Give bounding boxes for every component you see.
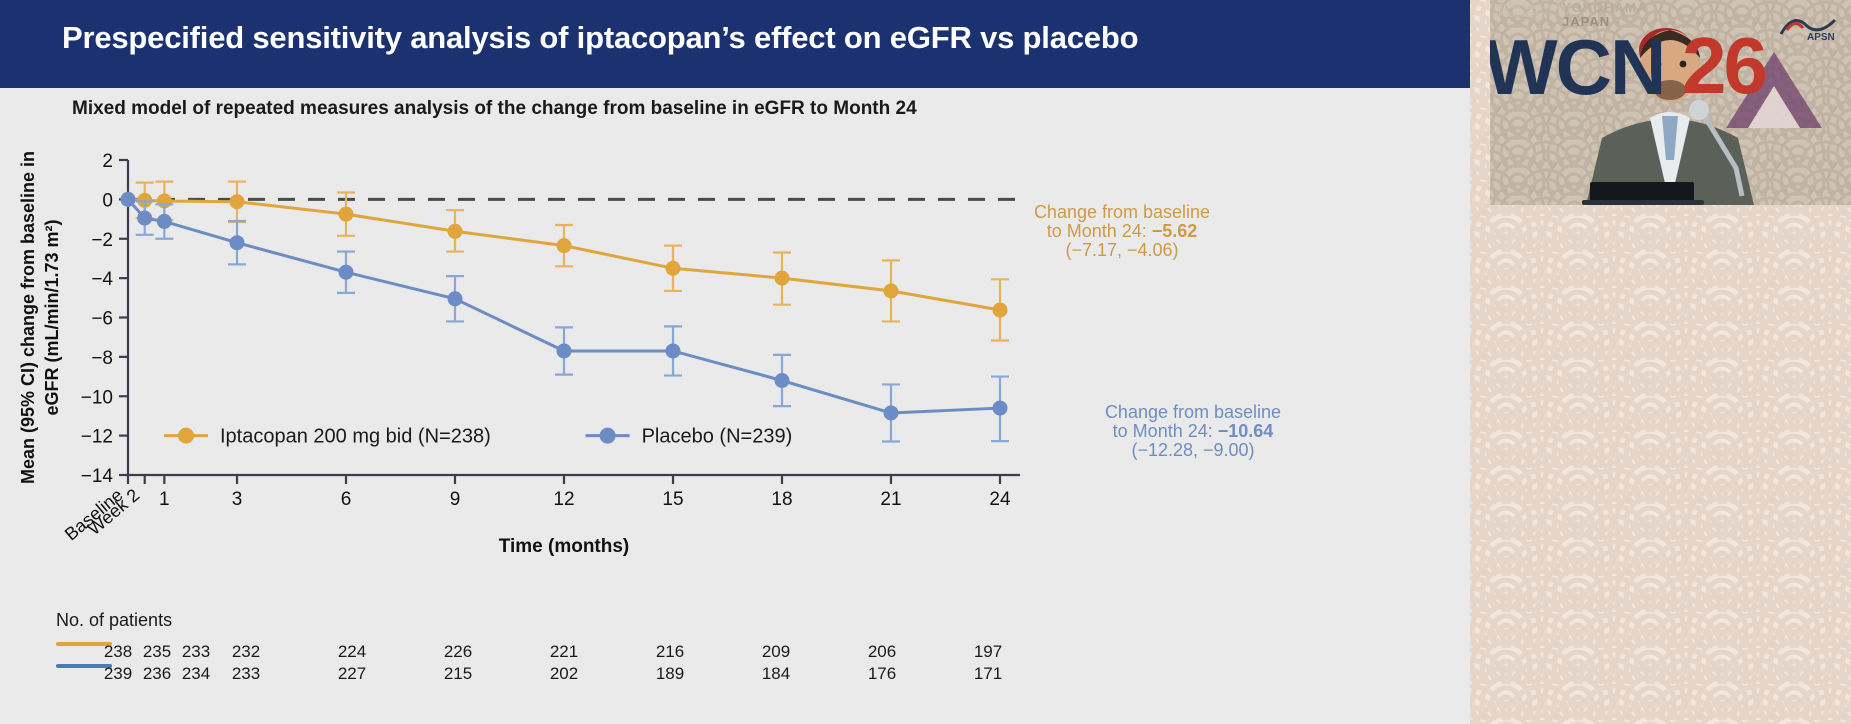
chart-plot-area: 20−2−4−6−8−10−12−14Mean (95% CI) change … <box>0 140 1470 600</box>
risk-table-cell: 226 <box>438 642 478 662</box>
risk-table-cell: 206 <box>862 642 902 662</box>
data-point[interactable] <box>884 405 899 420</box>
risk-table-cell: 209 <box>756 642 796 662</box>
y-tick-label: −10 <box>81 387 113 408</box>
x-tick-label: 6 <box>341 489 352 510</box>
x-tick-label: 12 <box>553 489 574 510</box>
data-point[interactable] <box>884 283 899 298</box>
y-tick-label: −6 <box>91 309 113 330</box>
x-tick-label: 21 <box>880 489 901 510</box>
y-tick-label: −4 <box>91 269 113 290</box>
y-tick-label: −8 <box>91 348 113 369</box>
data-point[interactable] <box>666 343 681 358</box>
speaker-video-thumbnail[interactable]: INTERNATIONAL SOCIETYOF NEPHROLOGY YOKOH… <box>1490 0 1851 205</box>
risk-table-cell: 233 <box>226 664 266 684</box>
data-point[interactable] <box>448 224 463 239</box>
risk-table-cell: 184 <box>756 664 796 684</box>
risk-table-cell: 202 <box>544 664 584 684</box>
risk-table-cell: 189 <box>650 664 690 684</box>
screen: Prespecified sensitivity analysis of ipt… <box>0 0 1851 724</box>
risk-table-cell: 224 <box>332 642 372 662</box>
data-point[interactable] <box>775 373 790 388</box>
legend-marker <box>600 428 616 444</box>
data-point[interactable] <box>666 261 681 276</box>
risk-table-cell: 238 <box>98 642 138 662</box>
risk-table-cell: 239 <box>98 664 138 684</box>
annotation-iptacopan-line2: to Month 24: −5.62 <box>1047 221 1198 241</box>
egfr-line-chart: 20−2−4−6−8−10−12−14Mean (95% CI) change … <box>0 140 1470 600</box>
y-axis-title-line2: eGFR (mL/min/1.73 m²) <box>42 219 62 415</box>
x-tick-label: 1 <box>159 489 170 510</box>
isn-logo-text: INTERNATIONAL SOCIETYOF NEPHROLOGY <box>1494 4 1570 20</box>
legend-label: Iptacopan 200 mg bid (N=238) <box>220 426 491 448</box>
legend-marker <box>178 428 194 444</box>
y-tick-label: 0 <box>102 190 113 211</box>
x-tick-label: 9 <box>450 489 461 510</box>
event-wcn-label: WCN <box>1490 22 1664 113</box>
annotation-placebo-line2: to Month 24: −10.64 <box>1113 421 1274 441</box>
data-point[interactable] <box>557 343 572 358</box>
chart-subtitle: Mixed model of repeated measures analysi… <box>72 98 1372 120</box>
x-tick-label: 24 <box>989 489 1011 510</box>
risk-table-cell: 227 <box>332 664 372 684</box>
risk-table-cell: 234 <box>176 664 216 684</box>
y-tick-label: 2 <box>102 151 113 172</box>
apsn-logo-icon: APSN <box>1777 8 1839 42</box>
risk-table-cell: 221 <box>544 642 584 662</box>
risk-table-cell: 235 <box>137 642 177 662</box>
data-point[interactable] <box>157 214 172 229</box>
risk-table-title: No. of patients <box>56 610 172 631</box>
data-point[interactable] <box>339 265 354 280</box>
data-point[interactable] <box>557 238 572 253</box>
data-point[interactable] <box>448 291 463 306</box>
slide-title: Prespecified sensitivity analysis of ipt… <box>62 20 1422 56</box>
x-tick-label: 15 <box>662 489 683 510</box>
y-tick-label: −14 <box>81 466 114 487</box>
x-tick-label: 3 <box>232 489 243 510</box>
x-axis-title: Time (months) <box>499 536 630 557</box>
no-of-patients-table: No. of patients 238235233232224226221216… <box>0 600 1470 724</box>
y-tick-label: −2 <box>91 230 113 251</box>
data-point[interactable] <box>339 207 354 222</box>
risk-table-cell: 215 <box>438 664 478 684</box>
annotation-placebo-line1: Change from baseline <box>1105 402 1281 422</box>
data-point[interactable] <box>230 194 245 209</box>
annotation-iptacopan-line1: Change from baseline <box>1034 202 1210 222</box>
y-tick-label: −12 <box>81 427 113 448</box>
risk-table-cell: 176 <box>862 664 902 684</box>
risk-table-cell: 216 <box>650 642 690 662</box>
event-year-label: 26 <box>1682 20 1765 112</box>
risk-table-cell: 233 <box>176 642 216 662</box>
data-point[interactable] <box>121 192 136 207</box>
legend-label: Placebo (N=239) <box>642 426 793 448</box>
svg-text:APSN: APSN <box>1807 32 1835 42</box>
annotation-placebo-line3: (−12.28, −9.00) <box>1131 440 1254 460</box>
presentation-slide: Prespecified sensitivity analysis of ipt… <box>0 0 1470 724</box>
data-point[interactable] <box>137 211 152 226</box>
data-point[interactable] <box>775 271 790 286</box>
risk-table-cell: 197 <box>968 642 1008 662</box>
risk-table-cell: 232 <box>226 642 266 662</box>
annotation-iptacopan-line3: (−7.17, −4.06) <box>1065 240 1178 260</box>
data-point[interactable] <box>993 303 1008 318</box>
y-axis-title-line1: Mean (95% CI) change from baseline in <box>18 151 38 484</box>
data-point[interactable] <box>230 235 245 250</box>
event-city-label: YOKOHAMA <box>1562 0 1647 15</box>
risk-table-cell: 171 <box>968 664 1008 684</box>
risk-table-cell: 236 <box>137 664 177 684</box>
data-point[interactable] <box>993 401 1008 416</box>
x-tick-label: 18 <box>771 489 792 510</box>
